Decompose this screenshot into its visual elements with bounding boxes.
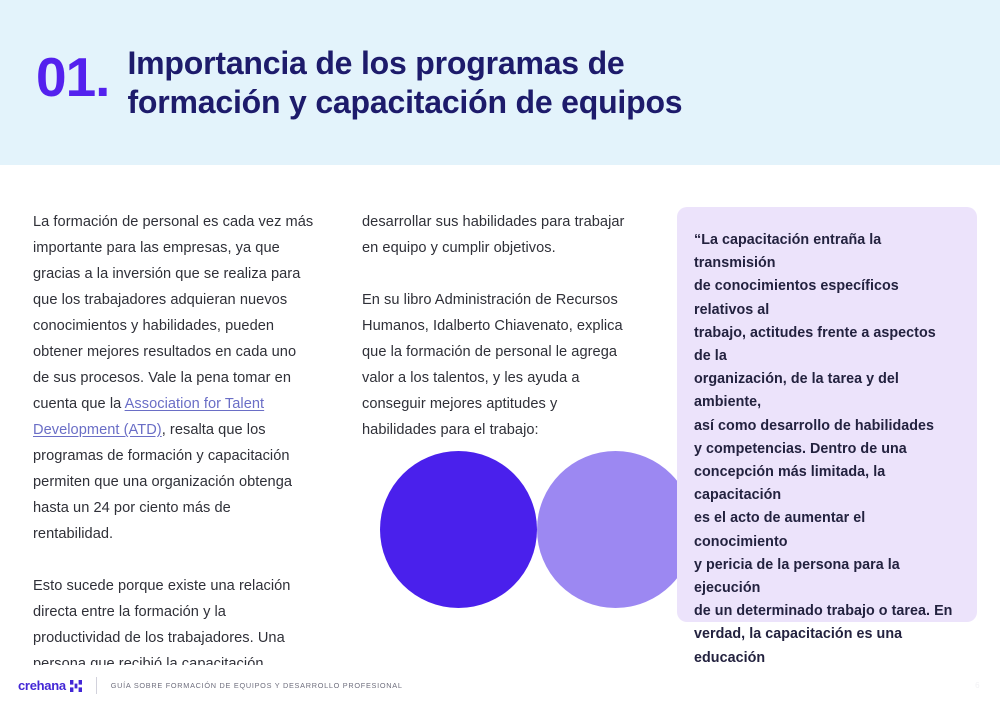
paragraph-4: En su libro Administración de Recursos H… — [362, 287, 634, 443]
quote-line: concepción más limitada, la capacitación — [694, 461, 955, 507]
quote-line: y competencias. Dentro de una — [694, 438, 955, 461]
quote-callout-card: “La capacitación entraña la transmisión … — [677, 207, 977, 622]
page-number: 6 — [975, 681, 980, 690]
section-number: 01. — [36, 44, 109, 108]
text-column-1: La formación de personal es cada vez más… — [33, 209, 315, 705]
quote-line: y pericia de la persona para la ejecució… — [694, 554, 955, 600]
page-title-line-2: formación y capacitación de equipos — [127, 83, 682, 122]
quote-line: así como desarrollo de habilidades — [694, 415, 955, 438]
quote-line: de conocimientos específicos relativos a… — [694, 275, 955, 321]
footer-divider — [96, 677, 97, 694]
paragraph-1-part-a: La formación de personal es cada vez más… — [33, 214, 313, 412]
quote-line: es el acto de aumentar el conocimiento — [694, 507, 955, 553]
document-page: 01. Importancia de los programas de form… — [0, 0, 1000, 705]
paragraph-1: La formación de personal es cada vez más… — [33, 209, 315, 547]
crehana-logo[interactable]: crehana — [18, 678, 82, 693]
section-header: 01. Importancia de los programas de form… — [36, 44, 682, 122]
decorative-circles — [362, 450, 678, 610]
paragraph-1-part-b: , resalta que los programas de formación… — [33, 422, 292, 542]
circle-dark-icon — [380, 451, 537, 608]
text-column-2: desarrollar sus habilidades para trabaja… — [362, 209, 634, 443]
footer-content: crehana GUÍA SOBRE FORMACIÓN DE EQUIPOS … — [18, 677, 403, 694]
page-title: Importancia de los programas de formació… — [127, 44, 682, 122]
quote-text: “La capacitación entraña la transmisión … — [694, 229, 955, 705]
paragraph-3: desarrollar sus habilidades para trabaja… — [362, 209, 634, 261]
circle-light-icon — [537, 451, 678, 608]
page-title-line-1: Importancia de los programas de — [127, 44, 682, 83]
brand-name: crehana — [18, 678, 66, 693]
quote-line: “La capacitación entraña la transmisión — [694, 229, 955, 275]
section-header-band: 01. Importancia de los programas de form… — [0, 0, 1000, 165]
quote-line: organización, de la tarea y del ambiente… — [694, 368, 955, 414]
quote-line: verdad, la capacitación es una educación — [694, 623, 955, 669]
footer-caption: GUÍA SOBRE FORMACIÓN DE EQUIPOS Y DESARR… — [111, 681, 403, 690]
page-footer: crehana GUÍA SOBRE FORMACIÓN DE EQUIPOS … — [0, 665, 1000, 705]
crehana-h-mark-icon — [70, 680, 82, 692]
quote-line: trabajo, actitudes frente a aspectos de … — [694, 322, 955, 368]
quote-line: de un determinado trabajo o tarea. En — [694, 600, 955, 623]
